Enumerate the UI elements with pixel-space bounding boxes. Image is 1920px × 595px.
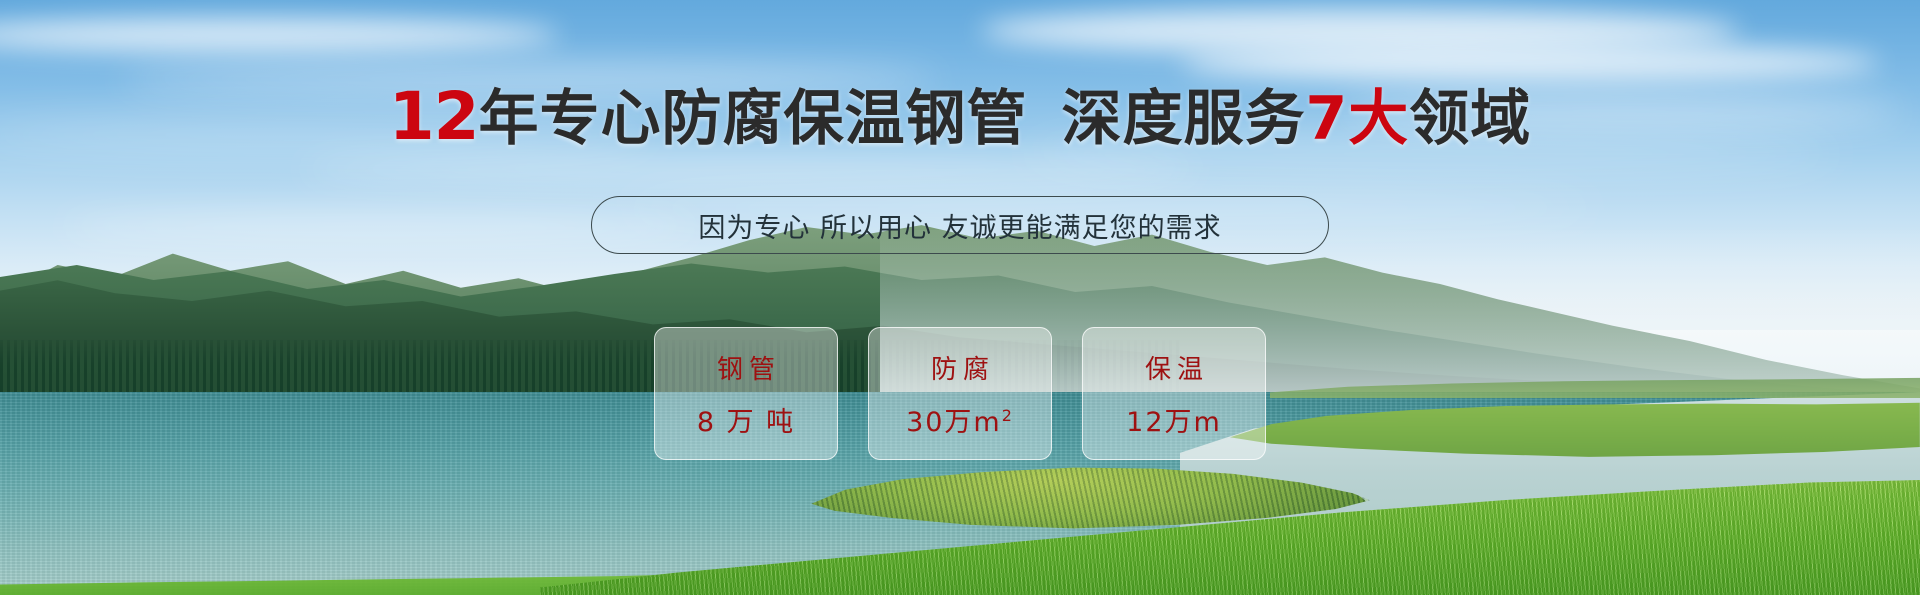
stats-row: 钢管 8 万 吨 防腐 30万m2 保温 12万m — [654, 327, 1266, 460]
stat-value-superscript: 2 — [1002, 406, 1014, 425]
headline-part-two: 深度服务 — [1062, 84, 1306, 154]
stat-label: 保温 — [1139, 349, 1209, 386]
stat-card-anticorrosion[interactable]: 防腐 30万m2 — [868, 327, 1052, 460]
stat-label: 钢管 — [711, 349, 781, 386]
headline-fields-number: 7 — [1306, 84, 1349, 154]
banner-content: 12年专心防腐保温钢管深度服务7大领域 因为专心 所以用心 友诚更能满足您的需求… — [0, 0, 1920, 595]
hero-banner: 12年专心防腐保温钢管深度服务7大领域 因为专心 所以用心 友诚更能满足您的需求… — [0, 0, 1920, 595]
headline-years-number: 12 — [389, 78, 479, 155]
headline-part-one: 年专心防腐保温钢管 — [479, 84, 1028, 154]
headline-fields-unit: 大 — [1348, 84, 1409, 154]
stat-value: 8 万 吨 — [697, 400, 795, 439]
stat-label: 防腐 — [925, 349, 995, 386]
stat-card-insulation[interactable]: 保温 12万m — [1082, 327, 1266, 460]
headline-part-three: 领域 — [1409, 84, 1531, 154]
headline: 12年专心防腐保温钢管深度服务7大领域 — [0, 84, 1920, 150]
subtitle-pill: 因为专心 所以用心 友诚更能满足您的需求 — [591, 196, 1329, 254]
stat-value: 30万m2 — [906, 400, 1014, 439]
subtitle-text: 因为专心 所以用心 友诚更能满足您的需求 — [698, 206, 1221, 245]
stat-card-steel-pipe[interactable]: 钢管 8 万 吨 — [654, 327, 838, 460]
stat-value-text: 30万m — [906, 407, 1002, 438]
stat-value: 12万m — [1126, 400, 1222, 439]
